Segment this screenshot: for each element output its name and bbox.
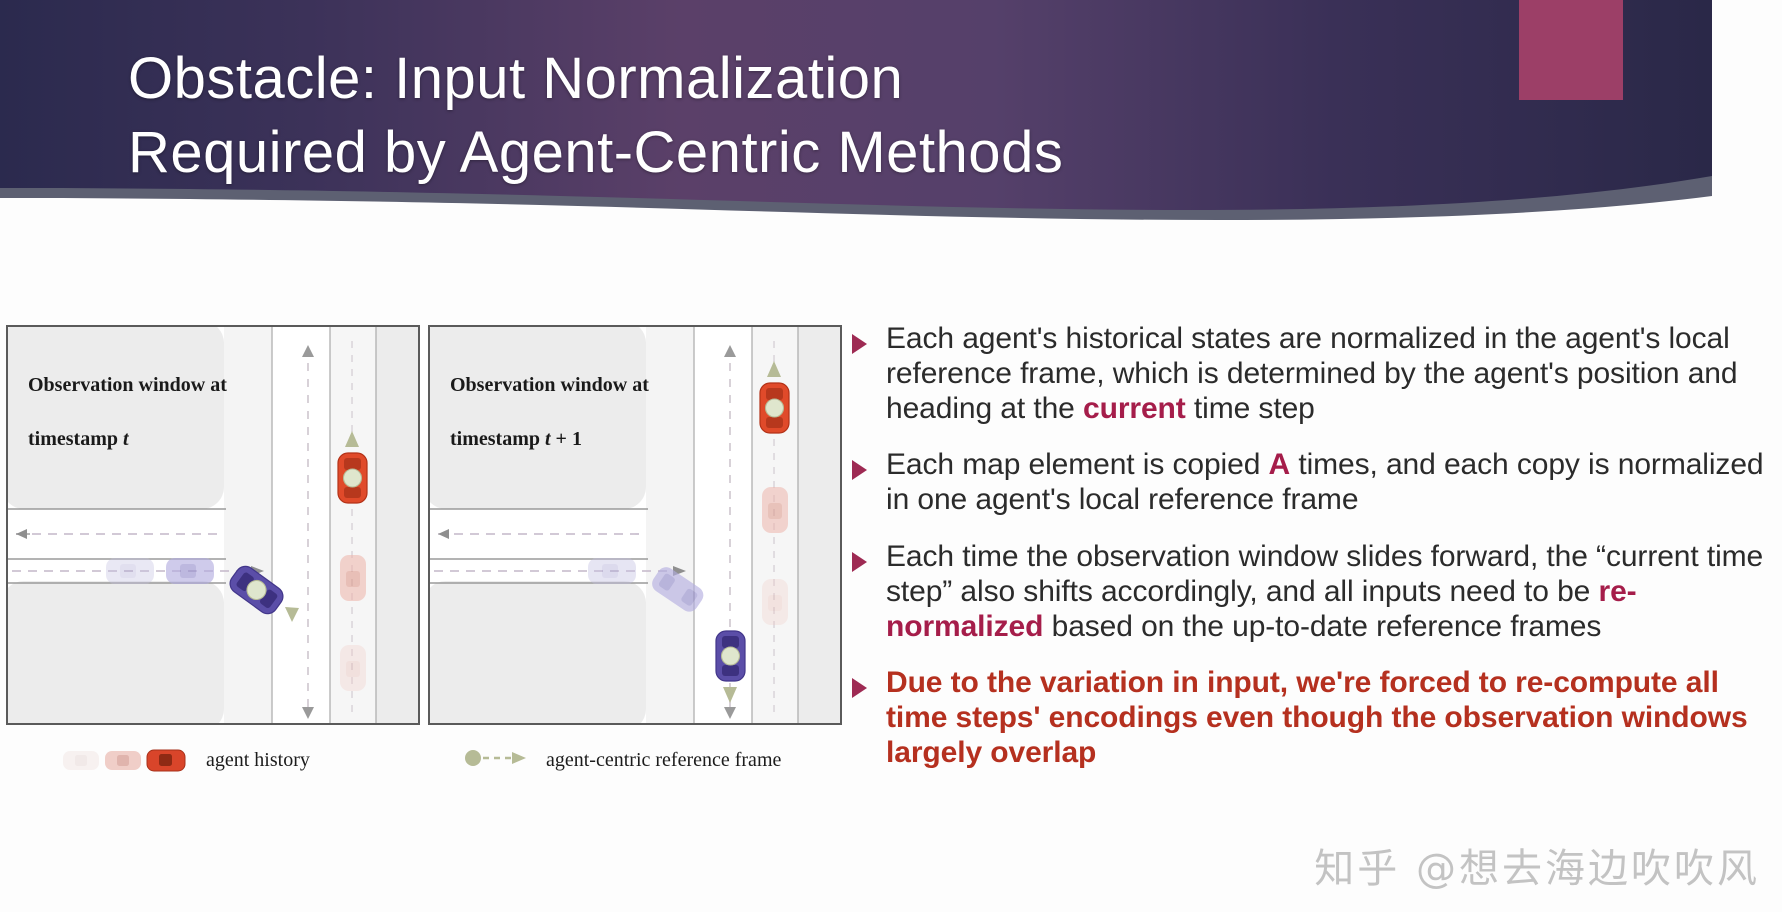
panel-caption-right: Observation window at timestamp t + 1 — [450, 345, 649, 453]
vlane-arrow-up — [302, 345, 314, 357]
vlane-arrow-down — [302, 707, 314, 719]
header-accent-rectangle — [1519, 0, 1623, 100]
legend-label-agent-history: agent history — [206, 749, 310, 772]
agent-red-focal — [338, 453, 367, 503]
median-strip — [646, 327, 694, 723]
caption-line-2-prefix: timestamp — [450, 428, 545, 450]
building-bottom-left — [430, 581, 646, 723]
bullet-recompute-cost: Due to the variation in input, we're for… — [852, 666, 1768, 770]
building-right — [376, 327, 418, 723]
figure-legend: agent history agent-centric reference fr… — [0, 745, 860, 795]
bullet-marker — [852, 540, 886, 644]
caption-variable: t — [123, 428, 129, 450]
legend-item-reference-frame: agent-centric reference frame — [462, 745, 781, 776]
building-right — [798, 327, 840, 723]
watermark: 知乎 @想去海边吹吹风 — [1314, 836, 1760, 894]
caption-line-1: Observation window at — [450, 374, 649, 396]
slide: Obstacle: Input Normalization Required b… — [0, 0, 1782, 912]
agent-purple-history-oldest — [106, 558, 154, 584]
median-strip — [224, 327, 272, 723]
history-car-current — [147, 750, 185, 771]
agent-red-history-mid — [762, 487, 788, 533]
vlane-arrow-up — [724, 345, 736, 357]
bullet-text: Each map element is copied A times, and … — [886, 448, 1768, 518]
bullet-segment: time step — [1186, 392, 1315, 425]
reference-frame-marker-purple — [722, 647, 740, 665]
bullet-text: Due to the variation in input, we're for… — [886, 666, 1768, 770]
bullet-marker — [852, 666, 886, 770]
westbound-arrow-head — [438, 529, 449, 539]
building-bottom-left — [8, 581, 224, 723]
agent-red-history-mid — [340, 555, 366, 601]
heading-marker-purple — [285, 607, 299, 622]
figure-panel-timestamp-t: Observation window at timestamp t — [6, 325, 420, 725]
legend-label-reference-frame: agent-centric reference frame — [546, 749, 781, 772]
caption-line-2-prefix: timestamp — [28, 428, 123, 450]
bullet-text: Each time the observation window slides … — [886, 540, 1768, 644]
figure-panel-timestamp-t-plus-1: Observation window at timestamp t + 1 — [428, 325, 842, 725]
triangle-bullet-icon — [852, 552, 867, 572]
heading-marker-purple — [723, 687, 737, 703]
agent-purple-focal — [716, 631, 745, 681]
triangle-bullet-icon — [852, 678, 867, 698]
bullet-marker — [852, 448, 886, 518]
history-car-oldest — [63, 751, 99, 770]
bullet-map-copies: Each map element is copied A times, and … — [852, 448, 1768, 518]
caption-line-1: Observation window at — [28, 374, 227, 396]
page-title: Obstacle: Input Normalization Required b… — [128, 42, 1428, 190]
reference-frame-marker-red — [766, 399, 784, 417]
bullet-segment: based on the up-to-date reference frames — [1043, 610, 1601, 643]
bullet-normalization: Each agent's historical states are norma… — [852, 322, 1768, 426]
bullet-text: Each agent's historical states are norma… — [886, 322, 1768, 426]
legend-item-agent-history: agent history — [62, 745, 310, 775]
vlane-arrow-down — [724, 707, 736, 719]
agent-red-history-oldest — [762, 579, 788, 625]
bullet-list: Each agent's historical states are norma… — [852, 322, 1768, 793]
agent-red-history-oldest — [340, 645, 366, 691]
reference-frame-marker-red — [344, 469, 362, 487]
agent-red-focal — [760, 383, 789, 433]
triangle-bullet-icon — [852, 334, 867, 354]
history-car-mid — [105, 751, 141, 770]
bullet-segment: Due to the variation in input, we're for… — [886, 666, 1748, 769]
triangle-bullet-icon — [852, 460, 867, 480]
bullet-sliding-window: Each time the observation window slides … — [852, 540, 1768, 644]
slide-header: Obstacle: Input Normalization Required b… — [0, 0, 1712, 232]
bullet-marker — [852, 322, 886, 426]
agent-centric-frame-icon — [462, 745, 534, 776]
bullet-segment: Each map element is copied — [886, 448, 1269, 481]
bullet-highlight: A — [1269, 448, 1291, 481]
bullet-highlight: current — [1083, 392, 1186, 425]
agent-history-icon — [62, 745, 194, 775]
agent-purple-history-oldest — [588, 558, 636, 584]
panel-caption-left: Observation window at timestamp t — [28, 345, 227, 453]
agent-purple-history-mid — [166, 558, 214, 584]
caption-line-2-suffix: + 1 — [551, 428, 582, 450]
westbound-arrow-head — [16, 529, 27, 539]
